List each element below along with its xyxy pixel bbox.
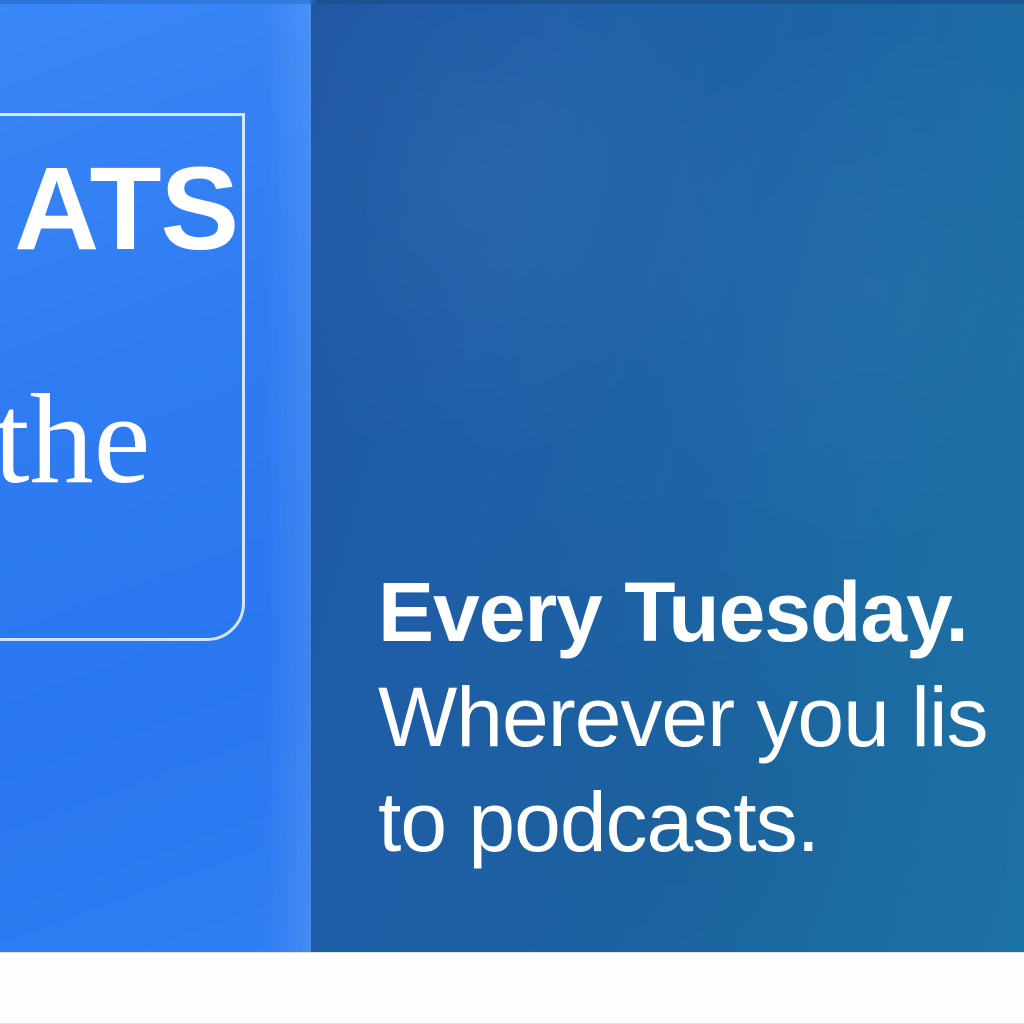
promo-line-schedule: Every Tuesday. <box>378 560 1024 665</box>
podcast-promo-banner: ATS the Every Tuesday. Wherever you lis … <box>0 0 1024 1024</box>
top-edge-band <box>0 0 1024 4</box>
promo-text-block: Every Tuesday. Wherever you lis to podca… <box>378 560 1024 875</box>
banner-artwork: ATS the Every Tuesday. Wherever you lis … <box>0 0 1024 952</box>
brand-panel: ATS the <box>0 0 311 952</box>
brand-acronym: ATS <box>14 150 238 268</box>
promo-panel: Every Tuesday. Wherever you lis to podca… <box>311 0 1024 952</box>
promo-line-availability: Wherever you lis <box>378 665 1024 770</box>
promo-line-medium: to podcasts. <box>378 770 1024 875</box>
page-footer-strip <box>0 952 1024 1024</box>
brand-word: the <box>0 375 150 503</box>
